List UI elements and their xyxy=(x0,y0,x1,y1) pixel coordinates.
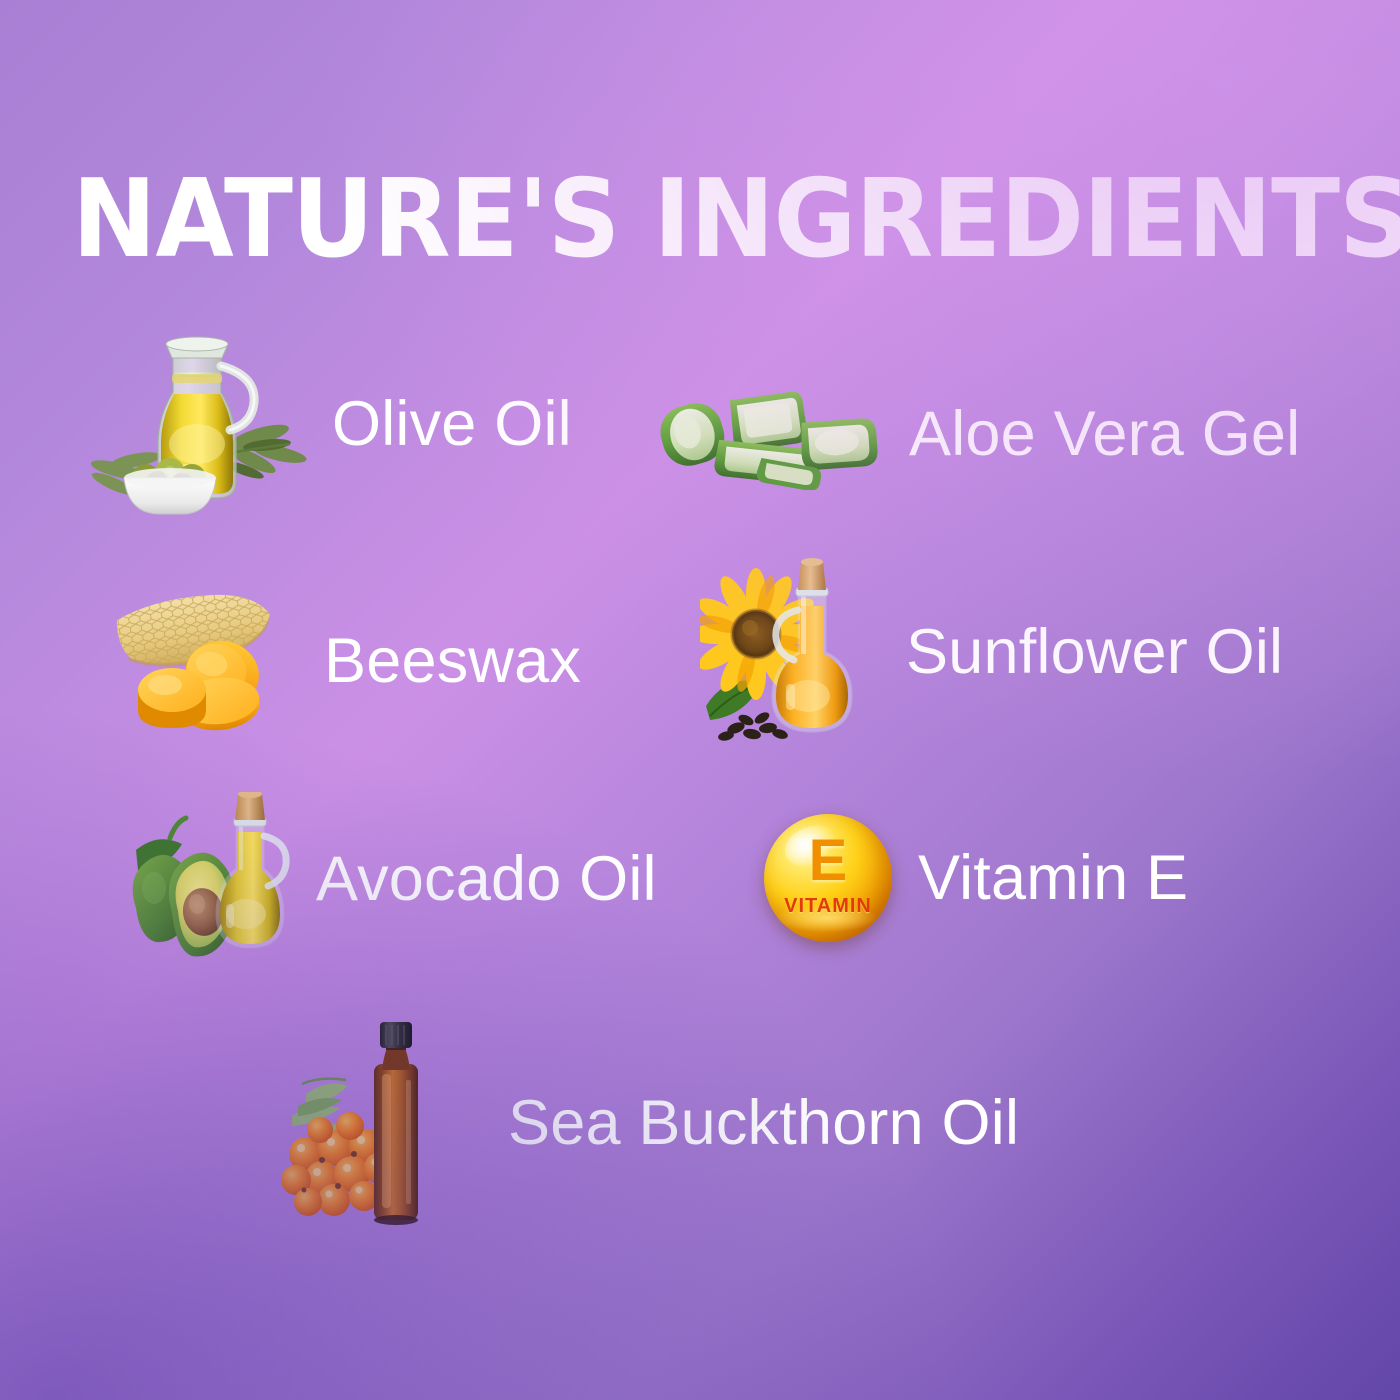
list-item-label: Aloe Vera Gel xyxy=(909,403,1300,466)
page-title: NATURE'S INGREDIENTS xyxy=(72,166,1378,274)
vitamin-word: VITAMIN xyxy=(764,895,892,918)
ingredients-poster: NATURE'S INGREDIENTS xyxy=(0,0,1400,1400)
list-item: Sea Buckthorn Oil xyxy=(262,1020,1019,1226)
vitamin-e-capsule-icon: E VITAMIN xyxy=(764,814,892,942)
beeswax-honeycomb-icon xyxy=(110,586,290,736)
list-item: Olive Oil xyxy=(84,332,572,516)
sunflower-oil-carafe-icon xyxy=(700,556,880,748)
list-item: Beeswax xyxy=(110,586,581,736)
sea-buckthorn-bottle-icon xyxy=(262,1020,468,1226)
list-item: Avocado Oil xyxy=(118,792,657,967)
avocado-oil-carafe-icon xyxy=(118,792,296,967)
list-item-label: Olive Oil xyxy=(332,393,572,456)
list-item: E VITAMIN Vitamin E xyxy=(764,814,1188,942)
list-item: Aloe Vera Gel xyxy=(655,378,1300,490)
list-item-label: Sunflower Oil xyxy=(906,621,1283,684)
list-item-label: Vitamin E xyxy=(918,847,1188,910)
list-item-label: Beeswax xyxy=(324,630,581,693)
list-item: Sunflower Oil xyxy=(700,556,1283,748)
vitamin-letter: E xyxy=(764,832,892,890)
olive-oil-bottle-icon xyxy=(84,332,312,516)
list-item-label: Sea Buckthorn Oil xyxy=(508,1092,1019,1155)
aloe-vera-slices-icon xyxy=(655,378,883,490)
list-item-label: Avocado Oil xyxy=(316,848,657,911)
